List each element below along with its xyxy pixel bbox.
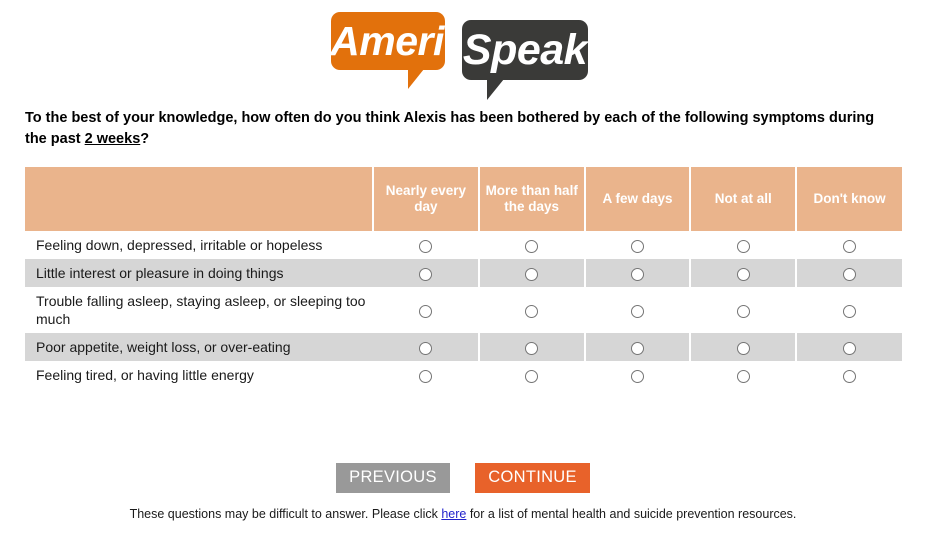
radio-cell-r1-c3[interactable] <box>690 259 796 287</box>
radio-button[interactable] <box>419 342 432 355</box>
radio-button[interactable] <box>631 240 644 253</box>
radio-cell-r1-c1[interactable] <box>479 259 585 287</box>
radio-cell-r4-c2[interactable] <box>585 361 691 389</box>
radio-cell-r4-c4[interactable] <box>796 361 902 389</box>
radio-cell-r2-c4[interactable] <box>796 287 902 333</box>
radio-button[interactable] <box>737 240 750 253</box>
grid-body: Feeling down, depressed, irritable or ho… <box>25 231 902 389</box>
radio-button[interactable] <box>419 268 432 281</box>
table-row: Little interest or pleasure in doing thi… <box>25 259 902 287</box>
grid-header-row: Nearly every day More than half the days… <box>25 167 902 231</box>
radio-cell-r1-c0[interactable] <box>373 259 479 287</box>
radio-cell-r2-c3[interactable] <box>690 287 796 333</box>
table-row: Feeling down, depressed, irritable or ho… <box>25 231 902 259</box>
navigation-buttons: PREVIOUS CONTINUE <box>0 463 926 493</box>
radio-button[interactable] <box>737 370 750 383</box>
radio-button[interactable] <box>419 370 432 383</box>
radio-cell-r4-c3[interactable] <box>690 361 796 389</box>
radio-cell-r2-c1[interactable] <box>479 287 585 333</box>
question-suffix: ? <box>140 131 149 147</box>
radio-button[interactable] <box>631 305 644 318</box>
radio-button[interactable] <box>525 240 538 253</box>
continue-button[interactable]: CONTINUE <box>475 463 590 493</box>
table-row: Trouble falling asleep, staying asleep, … <box>25 287 902 333</box>
radio-button[interactable] <box>843 370 856 383</box>
grid-header-col-4: Don't know <box>796 167 902 231</box>
row-label: Little interest or pleasure in doing thi… <box>25 259 373 287</box>
radio-cell-r4-c1[interactable] <box>479 361 585 389</box>
radio-button[interactable] <box>737 268 750 281</box>
question-underlined-period: 2 weeks <box>85 131 141 147</box>
radio-cell-r2-c2[interactable] <box>585 287 691 333</box>
question-prefix: To the best of your knowledge, how often… <box>25 110 874 147</box>
radio-button[interactable] <box>737 342 750 355</box>
radio-button[interactable] <box>631 370 644 383</box>
radio-button[interactable] <box>631 268 644 281</box>
radio-cell-r0-c1[interactable] <box>479 231 585 259</box>
radio-cell-r4-c0[interactable] <box>373 361 479 389</box>
radio-cell-r1-c2[interactable] <box>585 259 691 287</box>
grid-header-col-0: Nearly every day <box>373 167 479 231</box>
mental-health-resources-link[interactable]: here <box>441 507 466 521</box>
footer-resources-note: These questions may be difficult to answ… <box>0 507 926 521</box>
row-label: Poor appetite, weight loss, or over-eati… <box>25 333 373 361</box>
speech-bubble-tail-orange-icon <box>408 69 440 89</box>
radio-cell-r0-c3[interactable] <box>690 231 796 259</box>
radio-button[interactable] <box>843 240 856 253</box>
footer-text-before: These questions may be difficult to answ… <box>130 507 442 521</box>
symptom-frequency-grid: Nearly every day More than half the days… <box>25 167 902 389</box>
grid-header-col-1: More than half the days <box>479 167 585 231</box>
radio-cell-r3-c2[interactable] <box>585 333 691 361</box>
logo-text-ameri: Ameri <box>330 21 446 62</box>
grid-header-col-2: A few days <box>585 167 691 231</box>
radio-cell-r3-c0[interactable] <box>373 333 479 361</box>
previous-button[interactable]: PREVIOUS <box>336 463 450 493</box>
radio-cell-r1-c4[interactable] <box>796 259 902 287</box>
radio-button[interactable] <box>419 305 432 318</box>
amerispeak-logo: Ameri Speak <box>0 0 926 108</box>
table-row: Poor appetite, weight loss, or over-eati… <box>25 333 902 361</box>
logo-bubble-ameri: Ameri <box>331 12 445 70</box>
logo-bubble-speak: Speak <box>462 20 588 80</box>
radio-button[interactable] <box>843 268 856 281</box>
radio-cell-r2-c0[interactable] <box>373 287 479 333</box>
radio-button[interactable] <box>737 305 750 318</box>
grid-header-blank <box>25 167 373 231</box>
row-label: Feeling down, depressed, irritable or ho… <box>25 231 373 259</box>
logo-text-speak: Speak <box>463 29 587 72</box>
radio-cell-r0-c0[interactable] <box>373 231 479 259</box>
radio-cell-r0-c2[interactable] <box>585 231 691 259</box>
speech-bubble-tail-dark-icon <box>487 79 521 100</box>
radio-button[interactable] <box>525 342 538 355</box>
table-row: Feeling tired, or having little energy <box>25 361 902 389</box>
radio-cell-r0-c4[interactable] <box>796 231 902 259</box>
grid-header-col-3: Not at all <box>690 167 796 231</box>
radio-cell-r3-c3[interactable] <box>690 333 796 361</box>
radio-button[interactable] <box>843 342 856 355</box>
radio-cell-r3-c1[interactable] <box>479 333 585 361</box>
radio-cell-r3-c4[interactable] <box>796 333 902 361</box>
question-text: To the best of your knowledge, how often… <box>25 108 897 150</box>
radio-button[interactable] <box>525 370 538 383</box>
radio-button[interactable] <box>419 240 432 253</box>
row-label: Trouble falling asleep, staying asleep, … <box>25 287 373 333</box>
radio-button[interactable] <box>525 268 538 281</box>
row-label: Feeling tired, or having little energy <box>25 361 373 389</box>
radio-button[interactable] <box>631 342 644 355</box>
radio-button[interactable] <box>525 305 538 318</box>
radio-button[interactable] <box>843 305 856 318</box>
footer-text-after: for a list of mental health and suicide … <box>466 507 796 521</box>
